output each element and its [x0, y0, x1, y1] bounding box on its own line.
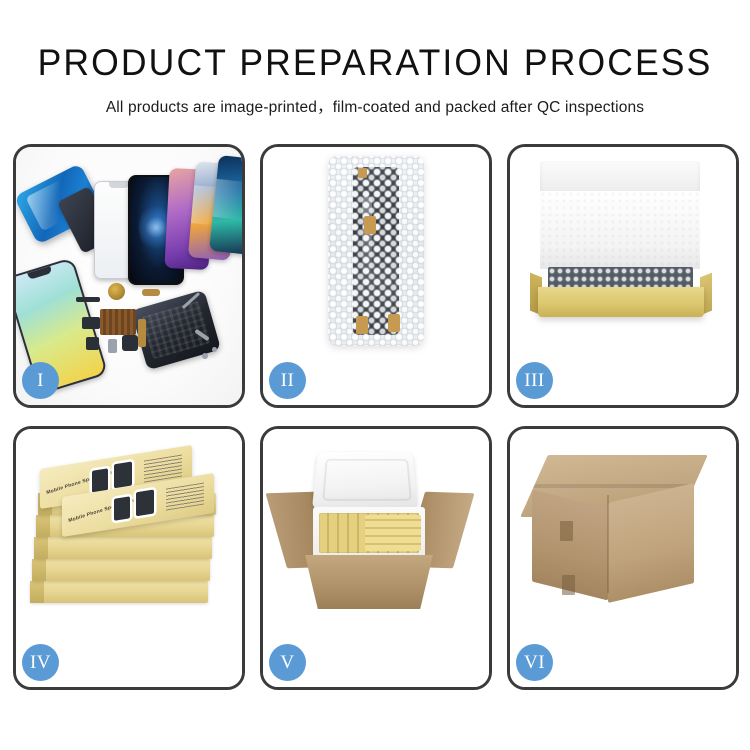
yellow-box-front — [538, 287, 704, 317]
step-panel-iv[interactable]: Mobile Phone Spare Parts Mobile Phone Sp… — [13, 426, 245, 690]
flex-cable-tab — [388, 314, 400, 332]
step-badge-ii: II — [269, 362, 306, 399]
connector-part — [142, 289, 160, 296]
vibration-motor-part — [122, 335, 138, 351]
camera-module-part — [82, 317, 100, 329]
foam-insert — [540, 191, 700, 269]
button-part — [86, 337, 99, 350]
carton-tape-strip — [560, 521, 573, 541]
carton-front-wall — [305, 555, 433, 609]
step-badge-iii: III — [516, 362, 553, 399]
step-panel-vi[interactable]: VI — [507, 426, 739, 690]
product-preparation-infographic: PRODUCT PREPARATION PROCESS All products… — [0, 0, 750, 750]
step-panel-i[interactable]: I — [13, 144, 245, 408]
bubble-wrap-bag — [328, 156, 424, 346]
carton-tape-strip — [562, 575, 575, 595]
bubble-wrap-layer — [548, 267, 693, 289]
screw-part — [212, 347, 217, 352]
stacked-box — [30, 581, 208, 603]
header: PRODUCT PREPARATION PROCESS All products… — [0, 0, 750, 117]
box-phone-graphic — [114, 496, 130, 521]
page-subtitle: All products are image-printed，film-coat… — [0, 95, 750, 117]
stacked-box — [34, 537, 212, 559]
box-spec-lines — [166, 483, 204, 511]
process-steps-grid: I II — [13, 144, 739, 690]
flex-cable-part — [76, 297, 100, 302]
flex-cable-tab — [364, 216, 376, 234]
page-title: PRODUCT PREPARATION PROCESS — [15, 44, 735, 81]
carton-right-face — [608, 483, 694, 603]
sim-tray-part — [108, 339, 117, 353]
step-panel-iii[interactable]: III — [507, 144, 739, 408]
screw-part — [202, 353, 208, 359]
antenna-flex-part — [138, 319, 146, 347]
speaker-part — [108, 283, 125, 300]
bubble-texture — [328, 156, 424, 346]
packed-yellow-boxes — [365, 515, 421, 551]
foam-lid-flap — [540, 161, 700, 195]
box-phone-graphic — [136, 489, 154, 516]
step-badge-iv: IV — [22, 644, 59, 681]
stacked-box — [32, 559, 210, 581]
box-phone-graphic — [114, 461, 132, 488]
step-panel-ii[interactable]: II — [260, 144, 492, 408]
carton-corner-seam — [607, 495, 609, 593]
flex-cable-tab — [356, 316, 368, 334]
logic-board-part — [100, 309, 136, 335]
step-badge-v: V — [269, 644, 306, 681]
step-panel-v[interactable]: V — [260, 426, 492, 690]
step-badge-vi: VI — [516, 644, 553, 681]
step-badge-i: I — [22, 362, 59, 399]
foam-lid — [312, 452, 418, 509]
flex-cable-tab — [358, 168, 367, 178]
